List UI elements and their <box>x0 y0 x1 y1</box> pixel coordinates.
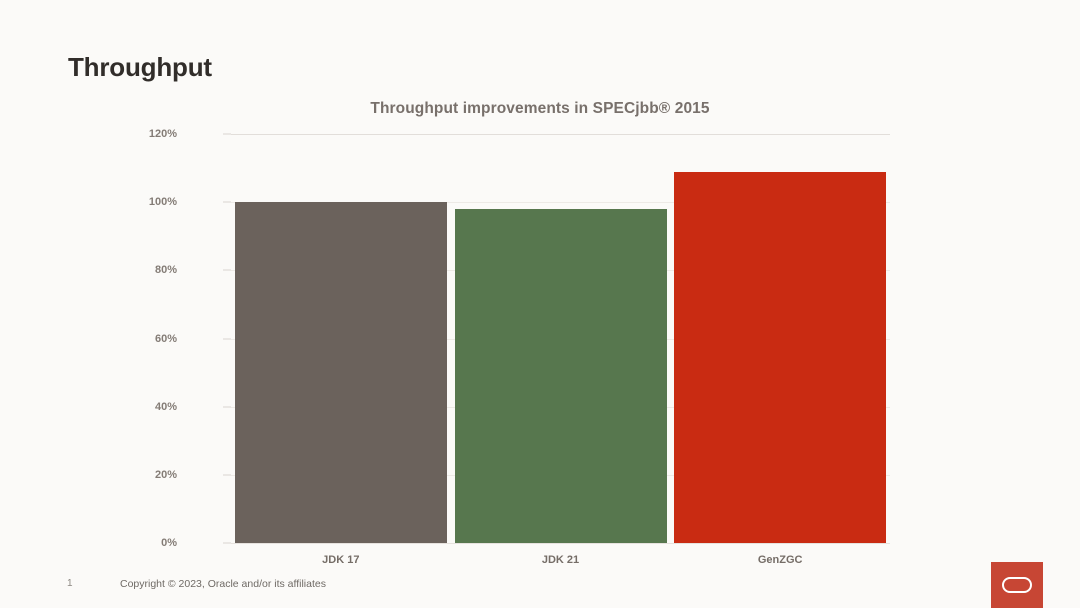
chart-bars <box>185 126 890 546</box>
chart-bar <box>235 202 447 543</box>
y-axis-tick-label: 60% <box>57 333 177 345</box>
bar-chart: Throughput improvements in SPECjbb® 2015… <box>0 92 1080 572</box>
oracle-logo <box>991 562 1043 608</box>
y-axis-tick-label: 40% <box>57 401 177 413</box>
y-axis-tick-label: 100% <box>57 196 177 208</box>
footer-copyright: Copyright © 2023, Oracle and/or its affi… <box>120 578 326 590</box>
chart-bar <box>455 209 667 543</box>
x-axis-tick-label: JDK 21 <box>455 554 667 566</box>
y-axis-tick-label: 0% <box>57 537 177 549</box>
slide-root: { "slide": { "title": "Throughput", "bac… <box>0 0 1080 608</box>
y-axis-tick-label: 20% <box>57 469 177 481</box>
footer-page-number: 1 <box>67 578 73 589</box>
chart-plot-area: 0%20%40%60%80%100%120% JDK 17JDK 21GenZG… <box>185 126 890 546</box>
y-axis-tick-label: 80% <box>57 264 177 276</box>
chart-title: Throughput improvements in SPECjbb® 2015 <box>0 100 1080 118</box>
page-title: Throughput <box>68 52 212 83</box>
oracle-logo-oval-icon <box>1002 577 1032 593</box>
chart-bar <box>674 172 886 544</box>
x-axis-tick-label: JDK 17 <box>235 554 447 566</box>
x-axis-tick-label: GenZGC <box>674 554 886 566</box>
y-axis-tick-label: 120% <box>57 128 177 140</box>
